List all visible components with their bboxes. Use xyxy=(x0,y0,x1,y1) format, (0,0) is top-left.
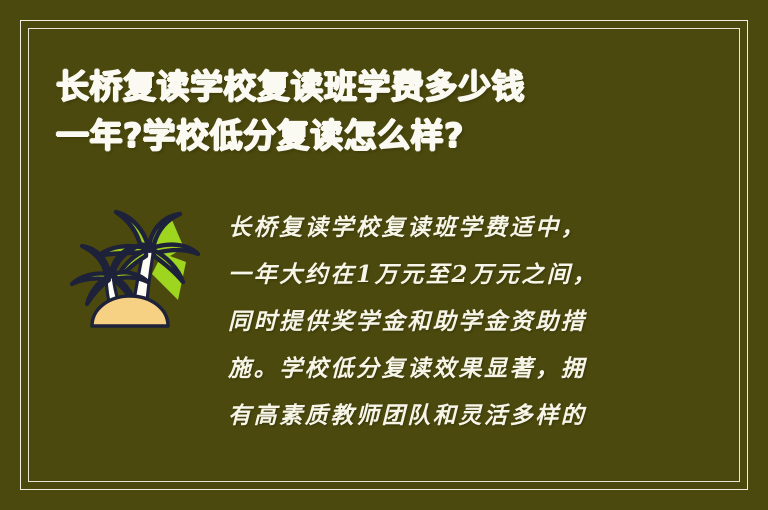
palm-trees-icon xyxy=(66,196,206,336)
poster-canvas: 长桥复读学校复读班学费多少钱 一年?学校低分复读怎么样? xyxy=(0,0,768,510)
body-line-1: 长桥复读学校复读班学费适中， xyxy=(228,204,628,251)
body-line-5: 有高素质教师团队和灵活多样的 xyxy=(228,392,628,439)
body-copy: 长桥复读学校复读班学费适中， 一年大约在1万元至2万元之间， 同时提供奖学金和助… xyxy=(228,204,628,439)
body-line-2: 一年大约在1万元至2万元之间， xyxy=(228,251,628,298)
body-line-4: 施。学校低分复读效果显著，拥 xyxy=(228,345,628,392)
sand-mound xyxy=(92,296,168,326)
body-line-3: 同时提供奖学金和助学金资助措 xyxy=(228,298,628,345)
title-line-2: 一年?学校低分复读怎么样? xyxy=(56,111,696,160)
page-title: 长桥复读学校复读班学费多少钱 一年?学校低分复读怎么样? xyxy=(56,62,696,160)
title-line-1: 长桥复读学校复读班学费多少钱 xyxy=(56,62,696,111)
